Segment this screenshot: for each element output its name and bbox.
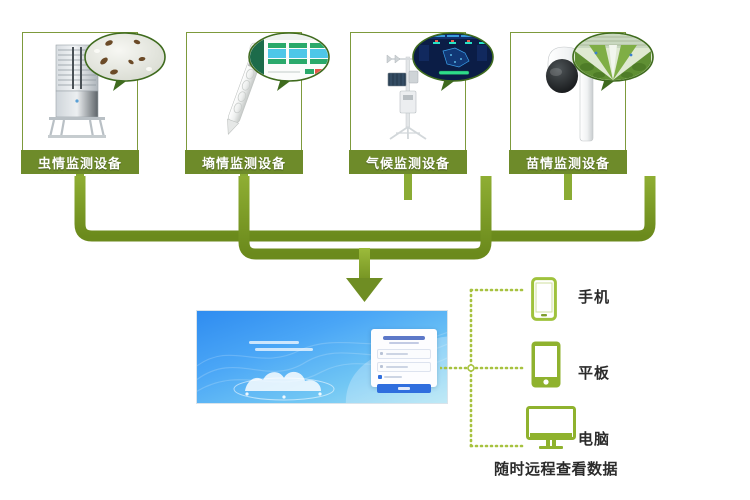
screen-slogan: [243, 341, 317, 355]
login-subtitle: [389, 342, 419, 344]
climate-data-dashboard-bubble: [411, 31, 495, 93]
device-label-soil: 墒情监测设备: [185, 150, 303, 174]
password-input[interactable]: [377, 362, 431, 372]
device-label-crop: 苗情监测设备: [509, 150, 627, 174]
client-label-phone: 手机: [578, 286, 610, 307]
login-panel[interactable]: [371, 329, 437, 387]
greenhouse-crop-bubble: [571, 31, 655, 93]
desktop-monitor-icon: [526, 406, 576, 452]
client-tablet[interactable]: [531, 341, 561, 392]
remember-password-checkbox[interactable]: [377, 375, 431, 380]
client-label-tablet: 平板: [578, 362, 610, 383]
tablet-icon: [531, 341, 561, 388]
cloud-platform-graphic: [225, 361, 343, 401]
slogan-line-1: [249, 341, 299, 344]
remote-access-caption: 随时远程查看数据: [494, 458, 618, 479]
mobile-phone-icon: [531, 277, 557, 321]
username-input[interactable]: [377, 349, 431, 359]
aggregation-bracket: [0, 176, 750, 306]
client-phone[interactable]: [531, 277, 557, 325]
device-label-pest: 虫情监测设备: [21, 150, 139, 174]
login-title: [383, 336, 425, 340]
diagram-canvas: 虫情监测设备: [0, 0, 750, 500]
soil-data-dashboard-bubble: [247, 31, 331, 93]
device-label-climate: 气候监测设备: [349, 150, 467, 174]
cloud-platform-screen[interactable]: [196, 310, 448, 404]
login-submit-button[interactable]: [377, 384, 431, 393]
insect-closeup-bubble: [83, 31, 167, 93]
client-desktop[interactable]: [526, 406, 576, 456]
slogan-line-2: [255, 348, 313, 351]
connector-junction-dot: [468, 365, 474, 371]
client-label-desktop: 电脑: [578, 428, 610, 449]
